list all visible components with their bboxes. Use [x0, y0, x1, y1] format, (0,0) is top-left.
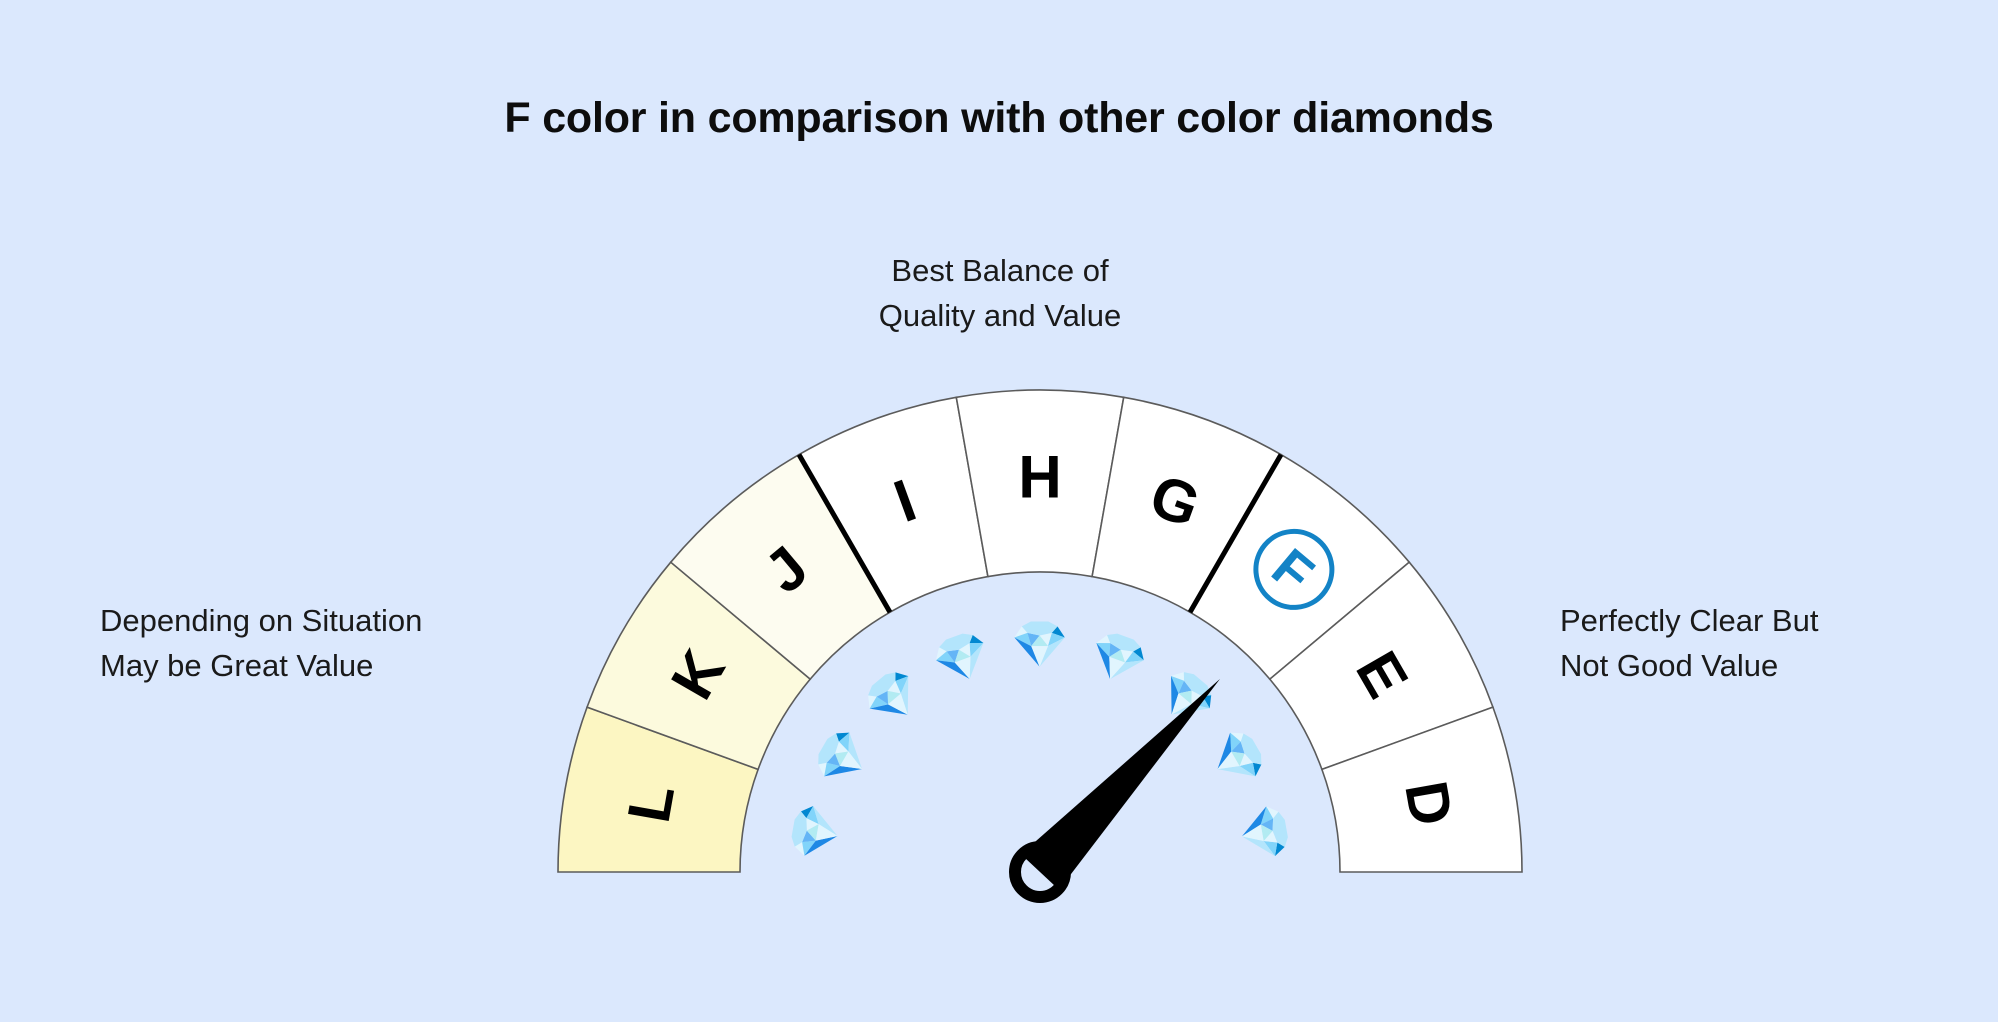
gauge-dial: LKJIHGFED 💎💎💎💎💎💎💎💎💎	[0, 0, 1998, 1022]
diamond-gem-icon: 💎	[1201, 720, 1275, 796]
diamond-gem-icon: 💎	[1082, 624, 1154, 692]
diamond-gem-icon: 💎	[926, 624, 998, 692]
diamond-gem-icon: 💎	[1148, 659, 1225, 736]
diamond-gem-icon: 💎	[785, 800, 846, 865]
gauge-gem-icons: 💎💎💎💎💎💎💎💎💎	[785, 618, 1295, 865]
needle-pointer	[1021, 679, 1220, 890]
gauge-needle	[1015, 679, 1220, 897]
diamond-gem-icon: 💎	[855, 659, 932, 736]
gauge-chart-canvas: F color in comparison with other color d…	[0, 0, 1998, 1022]
diamond-gem-icon: 💎	[1234, 800, 1295, 865]
gauge-segment-label: H	[1018, 444, 1061, 511]
diamond-gem-icon: 💎	[806, 720, 880, 796]
diamond-gem-icon: 💎	[1011, 618, 1068, 670]
